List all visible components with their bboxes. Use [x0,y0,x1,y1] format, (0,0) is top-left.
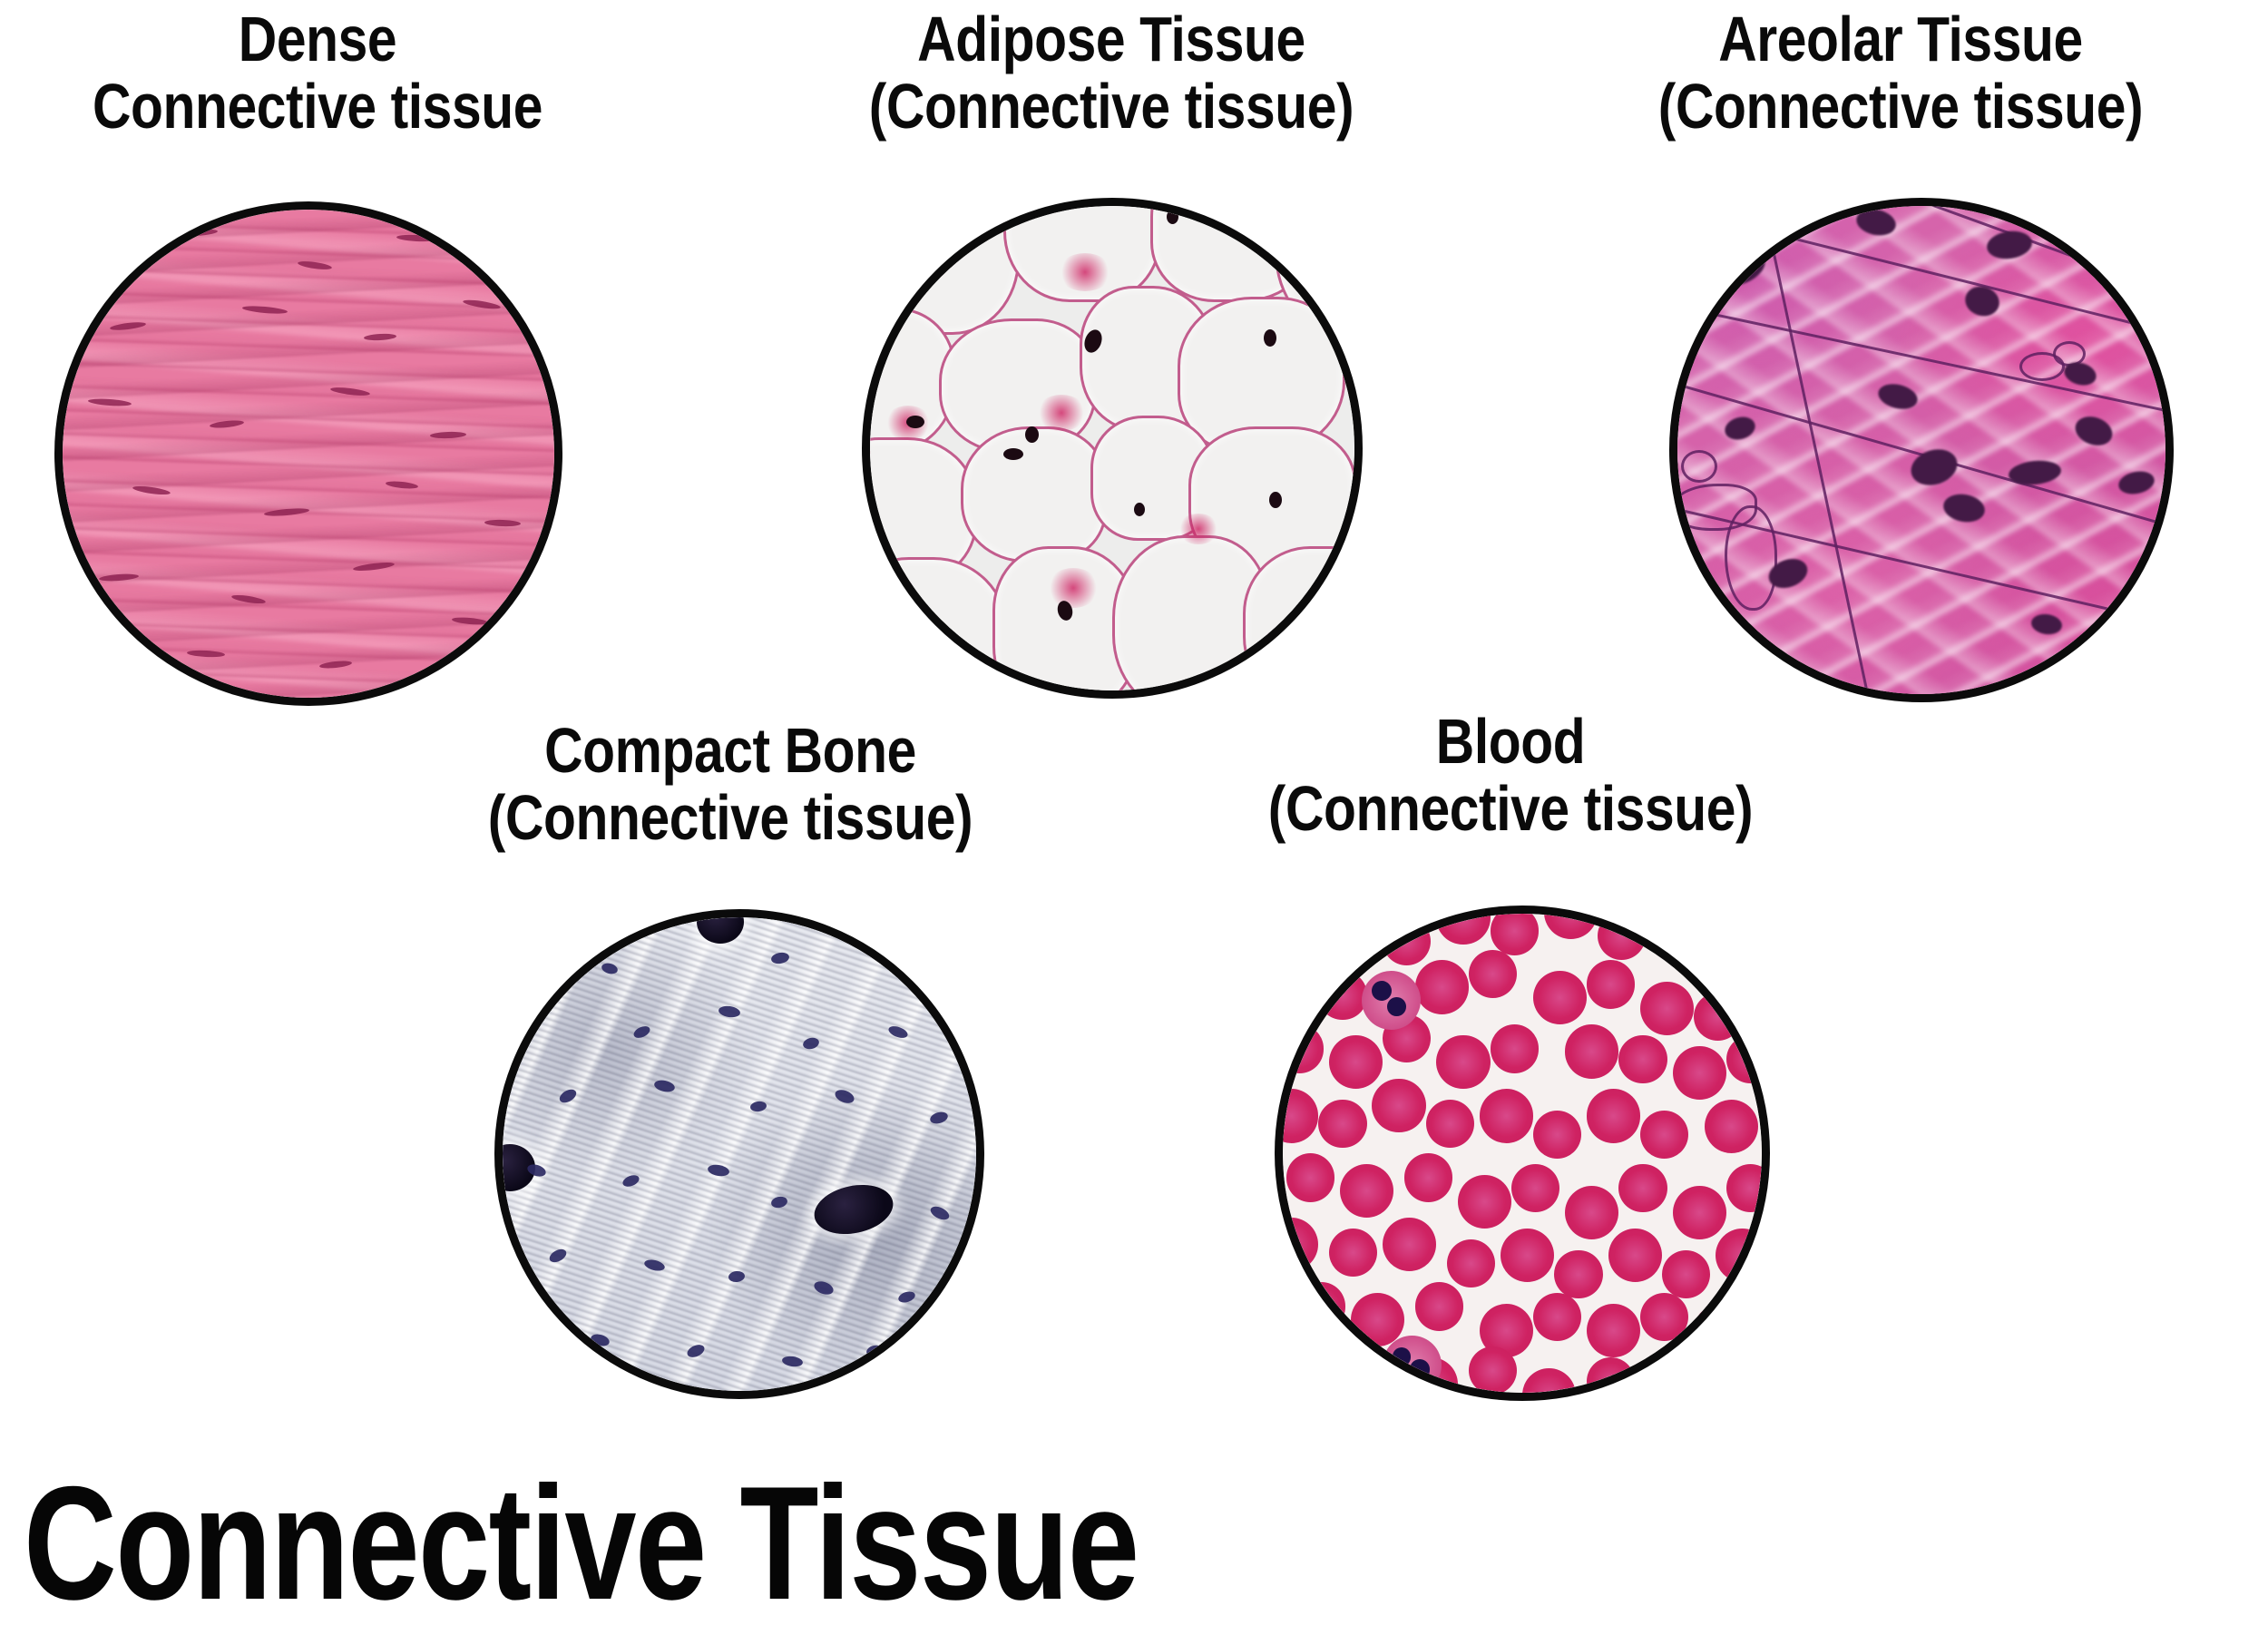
panel-adipose-tissue: Adipose Tissue (Connective tissue) [744,5,1479,699]
panel-adipose-caption-line1: Adipose Tissue [803,5,1420,73]
panel-blood: Blood (Connective tissue) [1166,708,1855,1401]
panel-areolar-caption-line2: (Connective tissue) [1592,73,2209,140]
panel-dense-caption-line2: Connective tissue [51,73,584,140]
panel-areolar-caption: Areolar Tissue (Connective tissue) [1592,5,2209,140]
panel-compact-bone: Compact Bone (Connective tissue) [363,717,1098,1399]
panel-compact-bone-caption-line1: Compact Bone [422,717,1039,784]
panel-dense-caption-line1: Dense [51,5,584,73]
wbc-lower-left [1383,1336,1442,1393]
panel-adipose-caption-line2: (Connective tissue) [803,73,1420,140]
panel-blood-caption: Blood (Connective tissue) [1221,708,1800,842]
panel-areolar-tissue: Areolar Tissue (Connective tissue) [1533,5,2268,702]
micrograph-adipose-tissue [862,198,1363,699]
micrograph-blood [1275,906,1770,1401]
dense-fibroblast-nuclei [63,210,554,698]
panel-dense-caption: Dense Connective tissue [51,5,584,140]
panel-areolar-caption-line1: Areolar Tissue [1592,5,2209,73]
panel-dense-connective-tissue: Dense Connective tissue [0,5,635,706]
bone-lacunae [503,917,976,1391]
panel-adipose-caption: Adipose Tissue (Connective tissue) [803,5,1420,140]
panel-blood-caption-line2: (Connective tissue) [1221,775,1800,842]
panel-blood-caption-line1: Blood [1221,708,1800,775]
micrograph-areolar-tissue [1669,198,2174,702]
wbc-upper-left [1362,971,1421,1030]
adipose-nuclei [870,206,1354,690]
micrograph-dense-connective-tissue [54,201,562,706]
figure-title: Connective Tissue [24,1463,1138,1624]
micrograph-compact-bone [494,909,984,1399]
blood-white-blood-cells [1283,914,1762,1393]
panel-compact-bone-caption-line2: (Connective tissue) [422,784,1039,851]
areolar-nuclei [1677,206,2165,694]
panel-compact-bone-caption: Compact Bone (Connective tissue) [422,717,1039,851]
